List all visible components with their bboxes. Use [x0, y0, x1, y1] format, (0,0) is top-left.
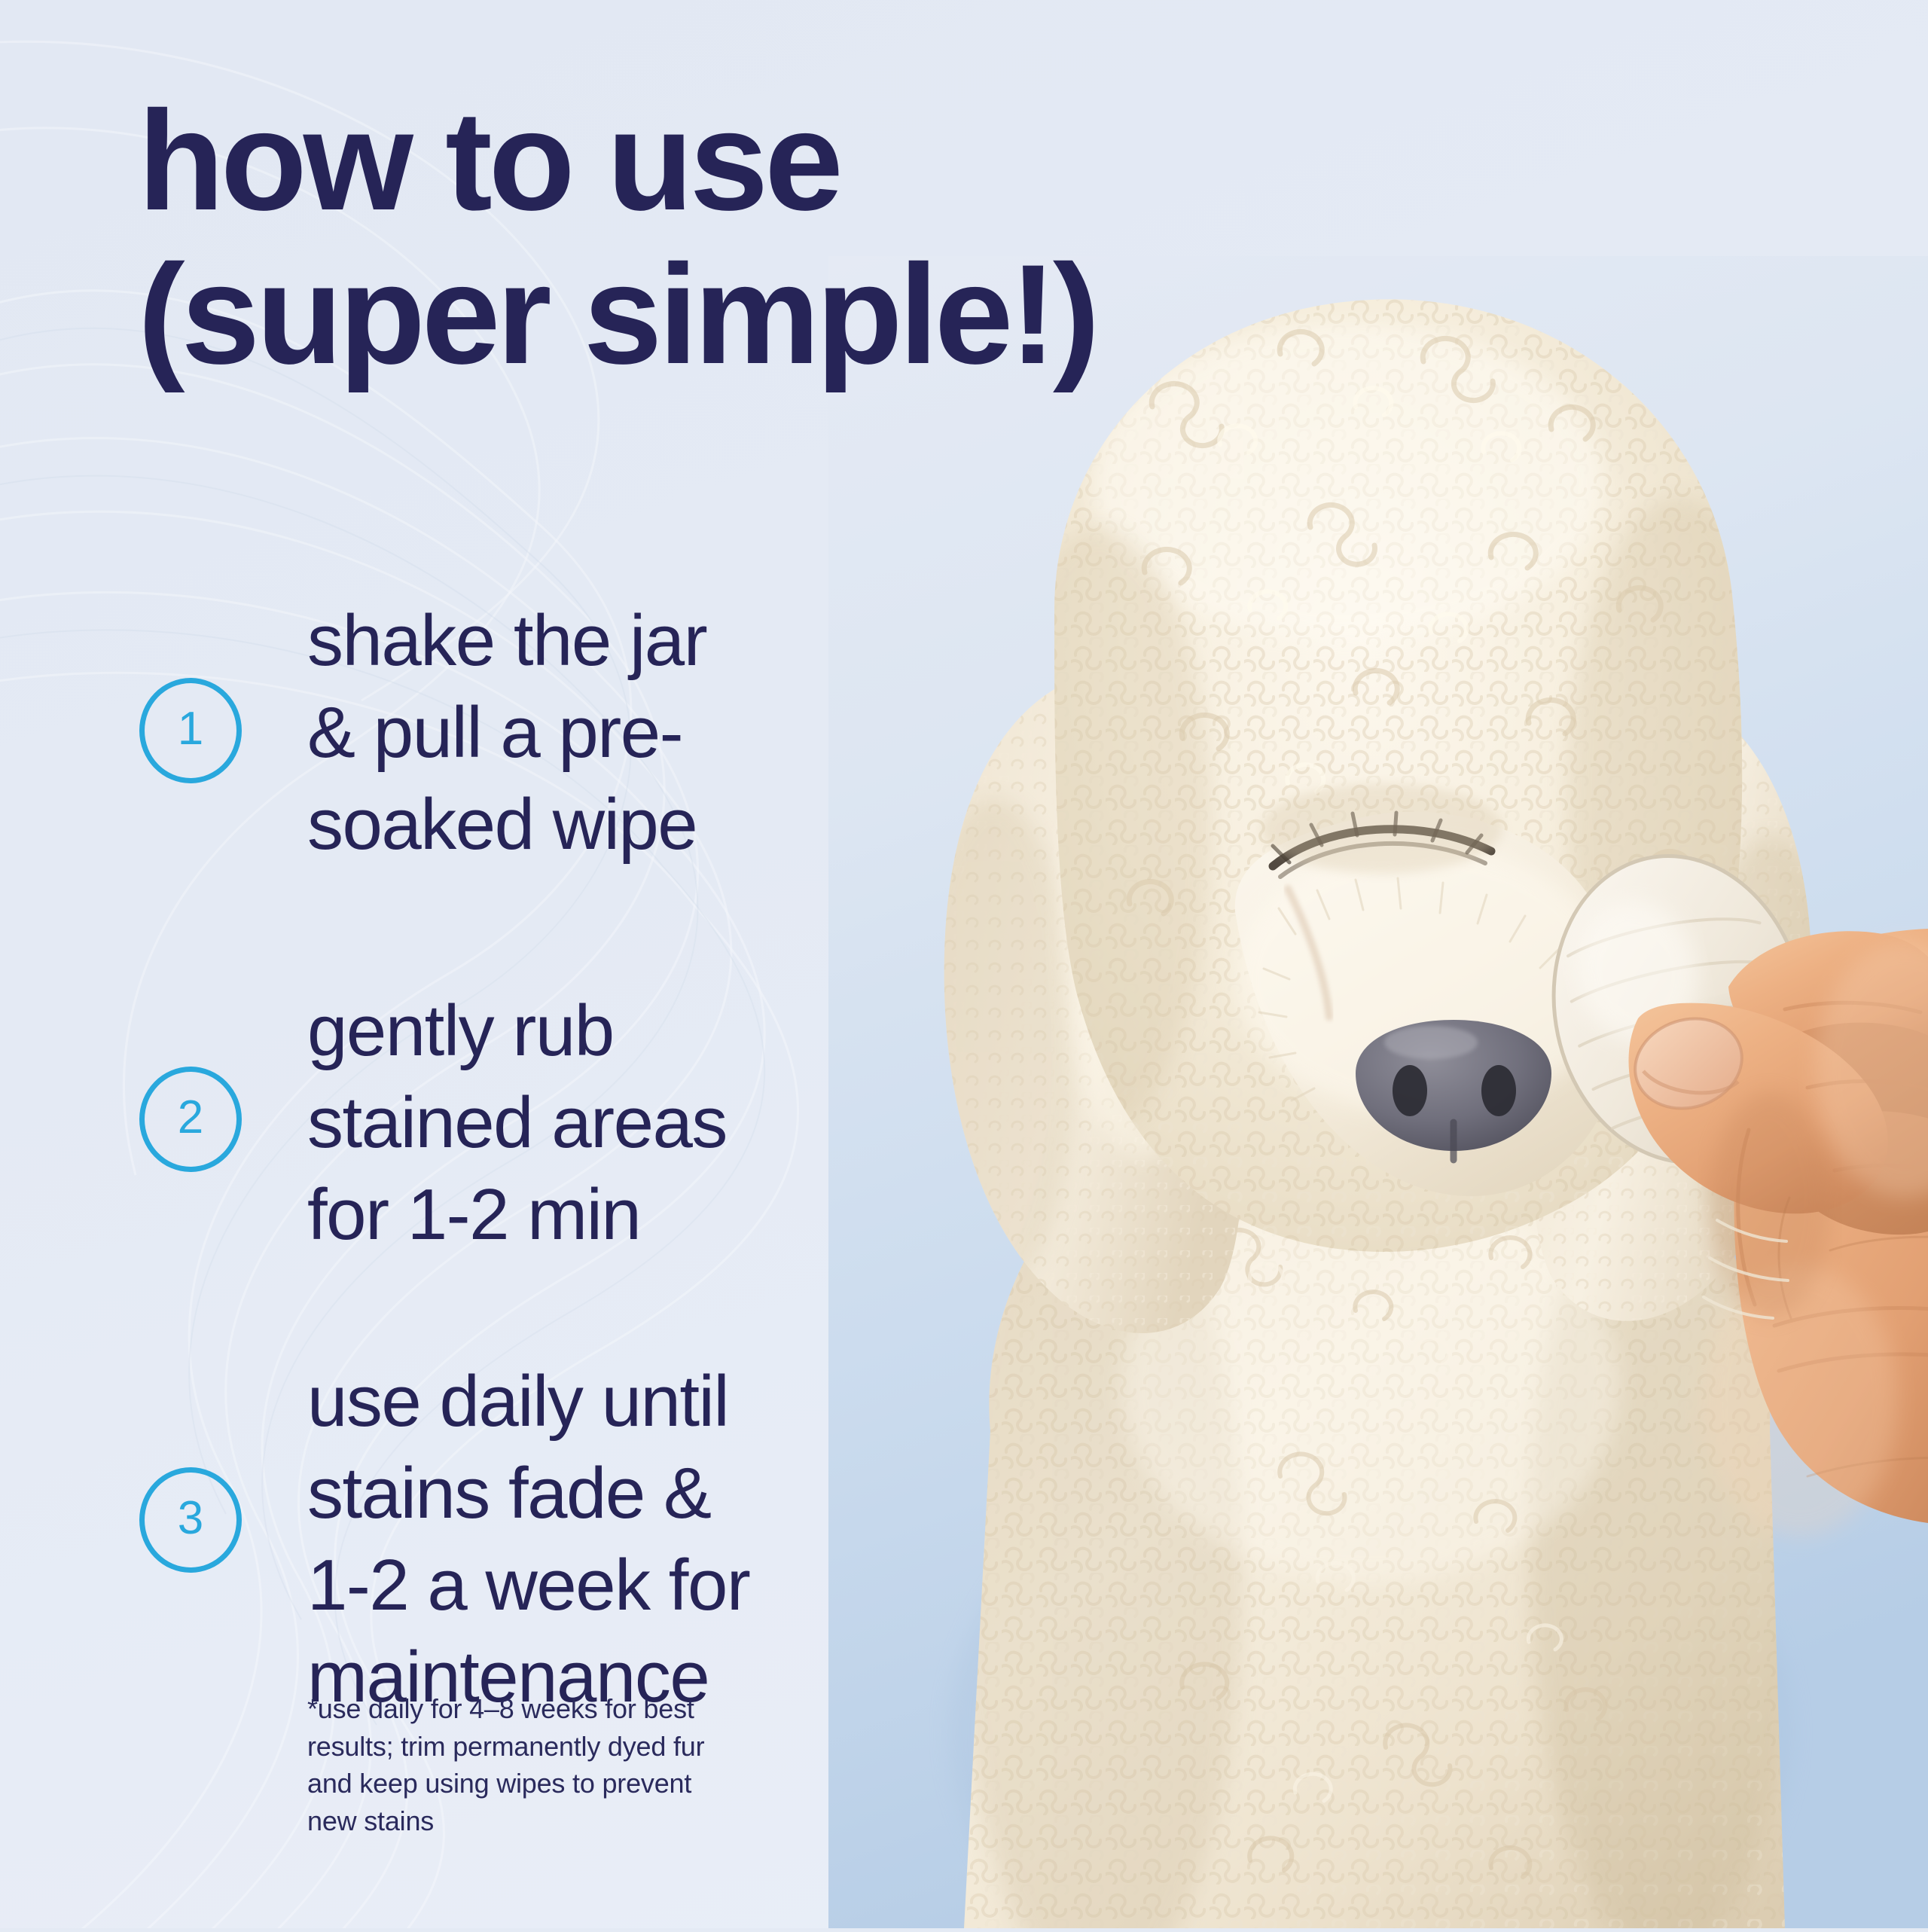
step-text-line: stained areas [307, 1077, 880, 1169]
step-number-badge-3: 3 [139, 1467, 242, 1573]
step-text-3: use daily until stains fade & 1-2 a week… [307, 1356, 880, 1723]
title-line-1: how to use [138, 84, 1079, 238]
step-text-line: 1-2 a week for [307, 1540, 880, 1631]
step-text-line: for 1-2 min [307, 1169, 880, 1261]
footnote-disclaimer: *use daily for 4–8 weeks for best result… [307, 1690, 834, 1840]
step-text-line: shake the jar [307, 595, 880, 687]
product-demo-photo [828, 256, 1928, 1928]
step-text-line: use daily until [307, 1356, 880, 1448]
title-line-2: (super simple!) [138, 238, 1079, 392]
page-title: how to use (super simple!) [138, 84, 1079, 392]
footnote-line: new stains [307, 1802, 834, 1840]
step-text-line: stains fade & [307, 1448, 880, 1540]
footnote-line: and keep using wipes to prevent [307, 1765, 834, 1802]
step-number-badge-2: 2 [139, 1067, 242, 1172]
step-text-1: shake the jar & pull a pre- soaked wipe [307, 595, 880, 871]
step-text-line: soaked wipe [307, 779, 880, 871]
step-text-2: gently rub stained areas for 1-2 min [307, 985, 880, 1261]
step-number-badge-1: 1 [139, 678, 242, 783]
step-text-line: & pull a pre- [307, 687, 880, 779]
footnote-line: results; trim permanently dyed fur [307, 1728, 834, 1766]
step-text-line: gently rub [307, 985, 880, 1077]
footnote-line: *use daily for 4–8 weeks for best [307, 1690, 834, 1728]
